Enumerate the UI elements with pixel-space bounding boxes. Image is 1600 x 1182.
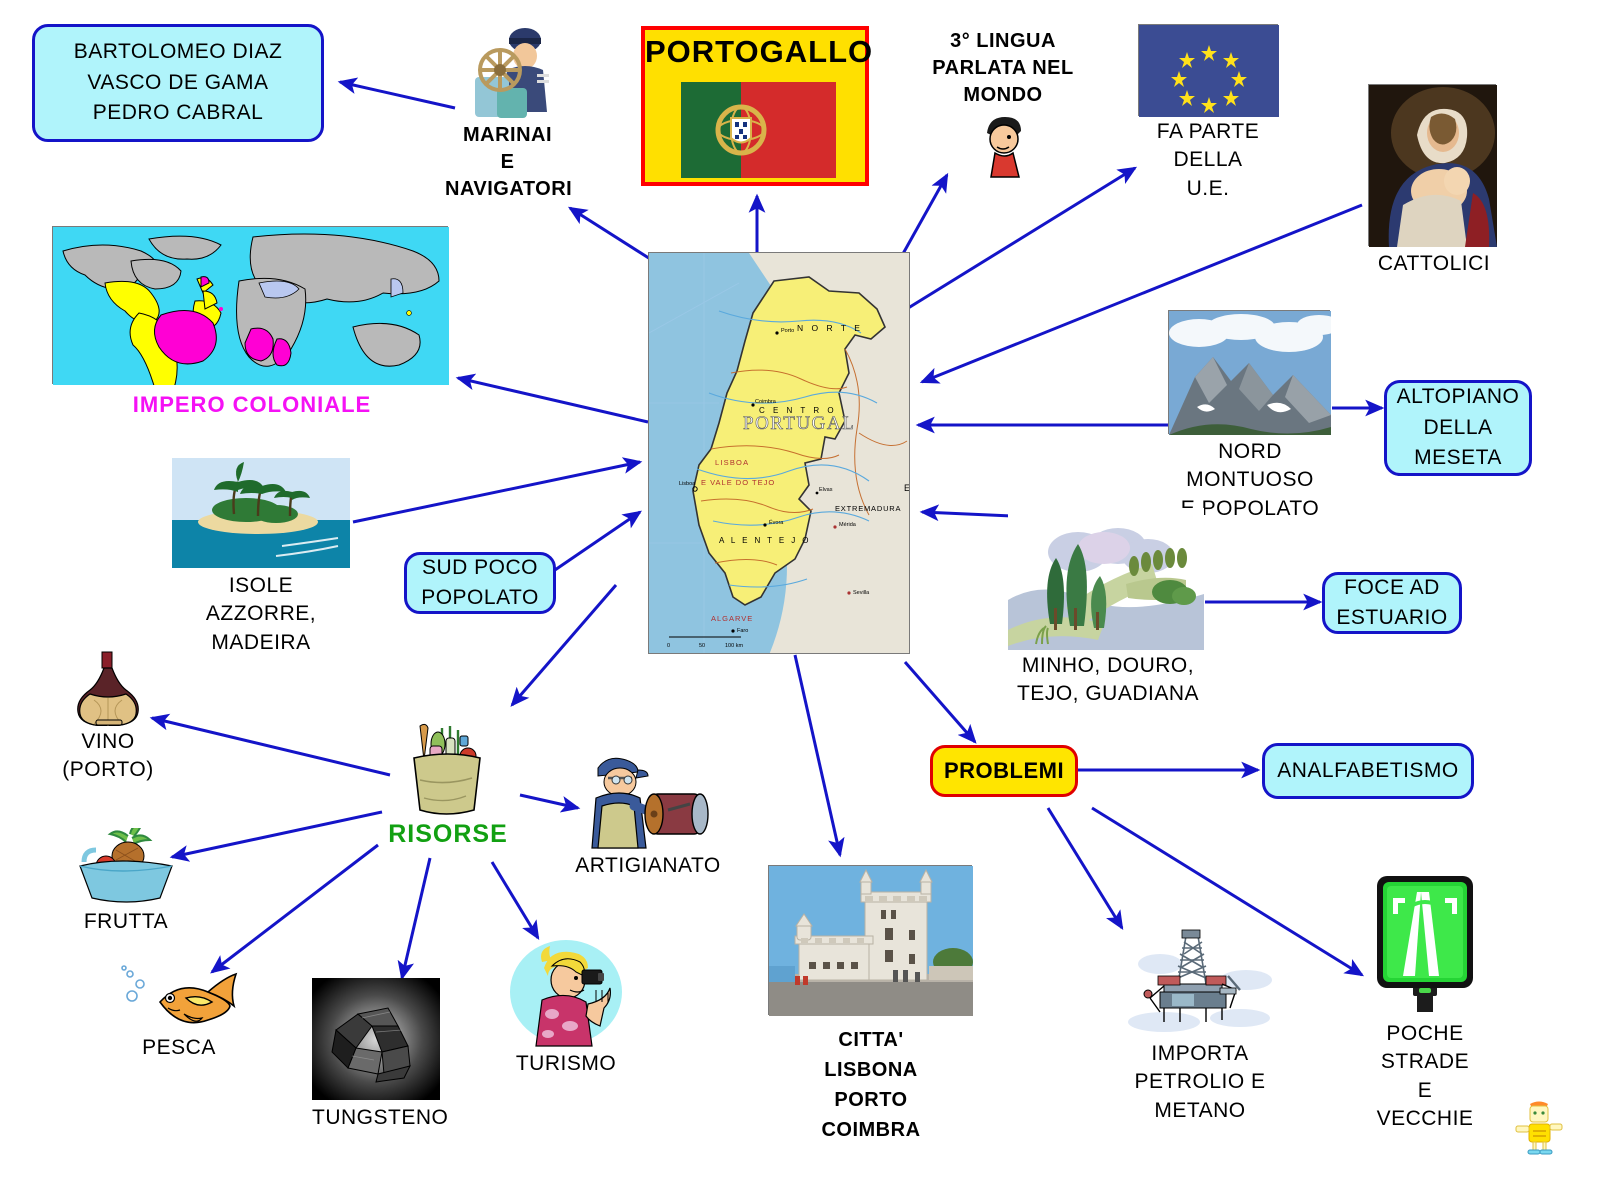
problems-label: PROBLEMI — [944, 758, 1064, 784]
tropical-island-icon — [172, 458, 350, 568]
svg-text:Lisboa: Lisboa — [679, 481, 696, 487]
title-box: PORTOGALLO — [641, 26, 869, 186]
tungsten-ore-photo — [312, 978, 440, 1100]
svg-text:Faro: Faro — [737, 628, 748, 634]
fishing-node: PESCA — [112, 962, 246, 1062]
svg-text:PORTUGAL: PORTUGAL — [743, 413, 855, 434]
svg-text:Sevilla: Sevilla — [853, 590, 870, 596]
wine-node: VINO (PORTO) — [60, 650, 156, 785]
estuary-line-2: ESTUARIO — [1336, 603, 1447, 633]
colonial-caption: IMPERO COLONIALE — [52, 390, 452, 420]
madonna-painting — [1368, 84, 1496, 246]
meseta-line-2: DELLA — [1397, 413, 1520, 443]
religion-node: CATTOLICI — [1368, 84, 1500, 278]
religion-caption: CATTOLICI — [1368, 250, 1500, 278]
mascot-node — [1514, 1098, 1564, 1161]
crafts-node: ARTIGIANATO — [572, 750, 724, 880]
svg-text:Elvas: Elvas — [819, 487, 833, 493]
problems-box: PROBLEMI — [930, 745, 1078, 797]
oil-node: IMPORTA PETROLIO E METANO — [1120, 928, 1280, 1125]
grocery-bag-icon — [388, 722, 508, 818]
svg-text:Coimbra: Coimbra — [755, 399, 777, 405]
fruit-basket-icon — [70, 828, 182, 906]
river-landscape-icon — [1008, 508, 1204, 650]
navigators-line-3: PEDRO CABRAL — [74, 98, 283, 128]
yellow-robot-mascot-icon — [1514, 1098, 1564, 1161]
sailor-caption: MARINAI E NAVIGATORI — [445, 122, 570, 203]
craftsman-icon — [572, 750, 722, 850]
wine-bottle-icon — [60, 650, 156, 726]
meseta-line-1: ALTOPIANO — [1397, 382, 1520, 412]
navigators-box: BARTOLOMEO DIAZ VASCO DE GAMA PEDRO CABR… — [32, 24, 324, 142]
roads-caption: POCHE STRADE E VECCHIE — [1362, 1020, 1488, 1133]
tourism-caption: TURISMO — [508, 1050, 624, 1078]
eu-caption: FA PARTE DELLA U.E. — [1128, 118, 1288, 203]
wine-caption: VINO (PORTO) — [60, 728, 156, 785]
south-line-1: SUD POCO — [421, 553, 539, 583]
islands-caption: ISOLE AZZORRE, MADEIRA — [172, 572, 350, 657]
svg-text:A L E N T E J O: A L E N T E J O — [719, 536, 811, 545]
portugal-regions-map: N O R T E C E N T R O LISBOA E VALE DO T… — [648, 252, 910, 654]
ship-helm-sailor-icon — [445, 22, 570, 122]
speaking-boy-icon — [973, 113, 1033, 184]
language-node: 3° LINGUA PARLATA NEL MONDO — [908, 28, 1098, 184]
svg-text:LISBOA: LISBOA — [715, 458, 749, 467]
islands-node: ISOLE AZZORRE, MADEIRA — [172, 458, 350, 657]
navigators-line-1: BARTOLOMEO DIAZ — [74, 37, 283, 67]
svg-text:100 km: 100 km — [725, 643, 743, 649]
svg-text:50: 50 — [699, 643, 705, 649]
south-line-2: POPOLATO — [421, 583, 539, 613]
mountain-photo — [1168, 310, 1330, 434]
rivers-node: MINHO, DOURO, TEJO, GUADIANA — [1008, 508, 1208, 709]
page-title: PORTOGALLO — [645, 34, 865, 70]
belem-tower-photo — [768, 865, 972, 1015]
svg-text:Mérida: Mérida — [839, 522, 857, 528]
crafts-caption: ARTIGIANATO — [572, 852, 724, 880]
navigators-line-2: VASCO DE GAMA — [74, 68, 283, 98]
svg-text:EXTREMADURA: EXTREMADURA — [835, 504, 901, 513]
eu-node: FA PARTE DELLA U.E. — [1128, 24, 1288, 203]
portugal-flag-icon — [681, 82, 836, 178]
meseta-line-3: MESETA — [1397, 443, 1520, 473]
svg-text:E VALE DO TEJO: E VALE DO TEJO — [701, 478, 775, 487]
tourist-camera-icon — [508, 938, 624, 1048]
svg-text:Évora: Évora — [769, 519, 784, 526]
highway-sign-icon — [1373, 872, 1477, 1016]
estuary-box: FOCE AD ESTUARIO — [1322, 572, 1462, 634]
colonial-node: IMPERO COLONIALE — [52, 226, 452, 420]
svg-text:N O R T E: N O R T E — [797, 323, 863, 333]
language-caption: 3° LINGUA PARLATA NEL MONDO — [908, 28, 1098, 109]
resources-caption: RISORSE — [388, 818, 508, 852]
tourism-node: TURISMO — [508, 938, 624, 1078]
svg-text:Porto: Porto — [781, 328, 794, 334]
tungsten-node: TUNGSTENO — [312, 978, 442, 1132]
fruit-caption: FRUTTA — [70, 908, 182, 936]
rivers-caption: MINHO, DOURO, TEJO, GUADIANA — [1008, 652, 1208, 709]
european-union-flag — [1138, 24, 1278, 116]
fish-icon — [112, 962, 246, 1032]
illiteracy-label: ANALFABETISMO — [1277, 756, 1459, 786]
mountains-node: NORD MONTUOSO E POPOLATO — [1168, 310, 1332, 523]
resources-node: RISORSE — [388, 722, 508, 852]
cities-caption: CITTA' LISBONA PORTO COIMBRA — [768, 1025, 974, 1145]
roads-node: POCHE STRADE E VECCHIE — [1362, 872, 1488, 1133]
estuary-line-1: FOCE AD — [1336, 573, 1447, 603]
fishing-caption: PESCA — [112, 1034, 246, 1062]
tungsten-caption: TUNGSTENO — [312, 1104, 442, 1132]
fruit-node: FRUTTA — [70, 828, 182, 936]
world-map-colonies — [52, 226, 448, 384]
meseta-box: ALTOPIANO DELLA MESETA — [1384, 380, 1532, 476]
sailor-node: MARINAI E NAVIGATORI — [445, 22, 570, 203]
svg-text:0: 0 — [667, 643, 670, 649]
oil-caption: IMPORTA PETROLIO E METANO — [1120, 1040, 1280, 1125]
oil-rig-icon — [1120, 928, 1280, 1034]
svg-text:E: E — [904, 483, 910, 493]
cities-node: CITTA' LISBONA PORTO COIMBRA — [768, 865, 974, 1145]
svg-text:ALGARVE: ALGARVE — [711, 614, 753, 623]
south-box: SUD POCO POPOLATO — [404, 552, 556, 614]
illiteracy-box: ANALFABETISMO — [1262, 743, 1474, 799]
